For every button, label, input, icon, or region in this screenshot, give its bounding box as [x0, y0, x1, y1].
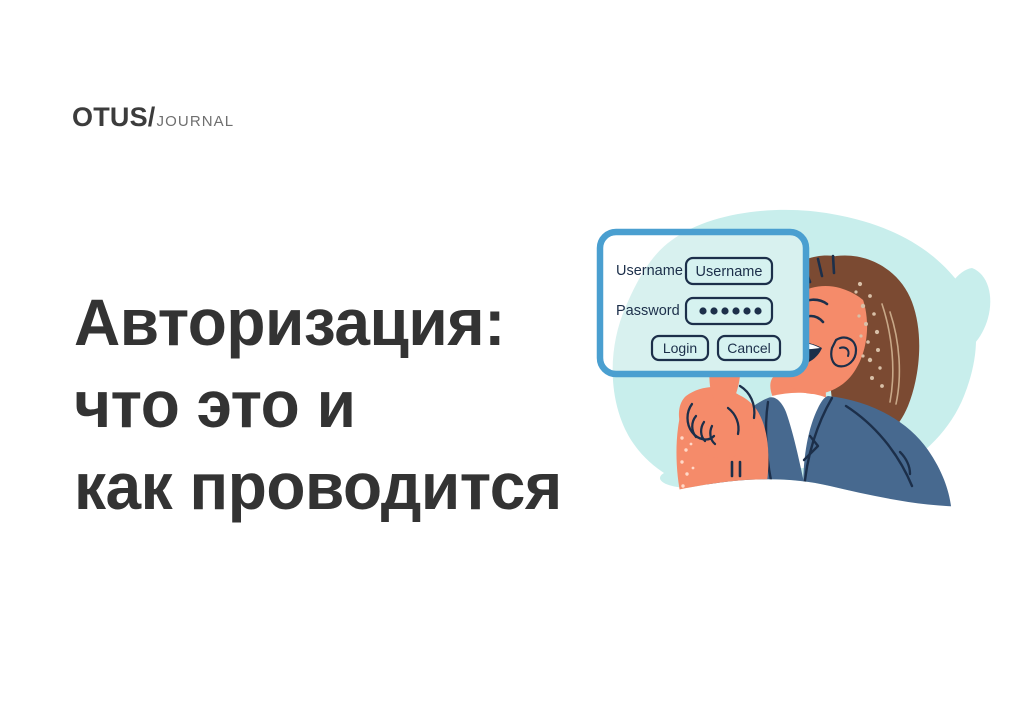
otus-journal-logo: OTUS/ JOURNAL [72, 104, 234, 131]
cancel-button-label: Cancel [727, 340, 771, 356]
logo-secondary-text: JOURNAL [157, 114, 235, 129]
username-input-value: Username [696, 264, 763, 280]
password-label: Password [616, 303, 680, 319]
cover-page: OTUS/ JOURNAL Авторизация: что это и как… [0, 0, 1024, 724]
character-ear [831, 338, 856, 367]
login-button-label: Login [663, 340, 697, 356]
login-illustration: Username Username Password [560, 200, 1024, 520]
username-label: Username [616, 263, 683, 279]
logo-primary-text: OTUS/ [72, 104, 156, 131]
